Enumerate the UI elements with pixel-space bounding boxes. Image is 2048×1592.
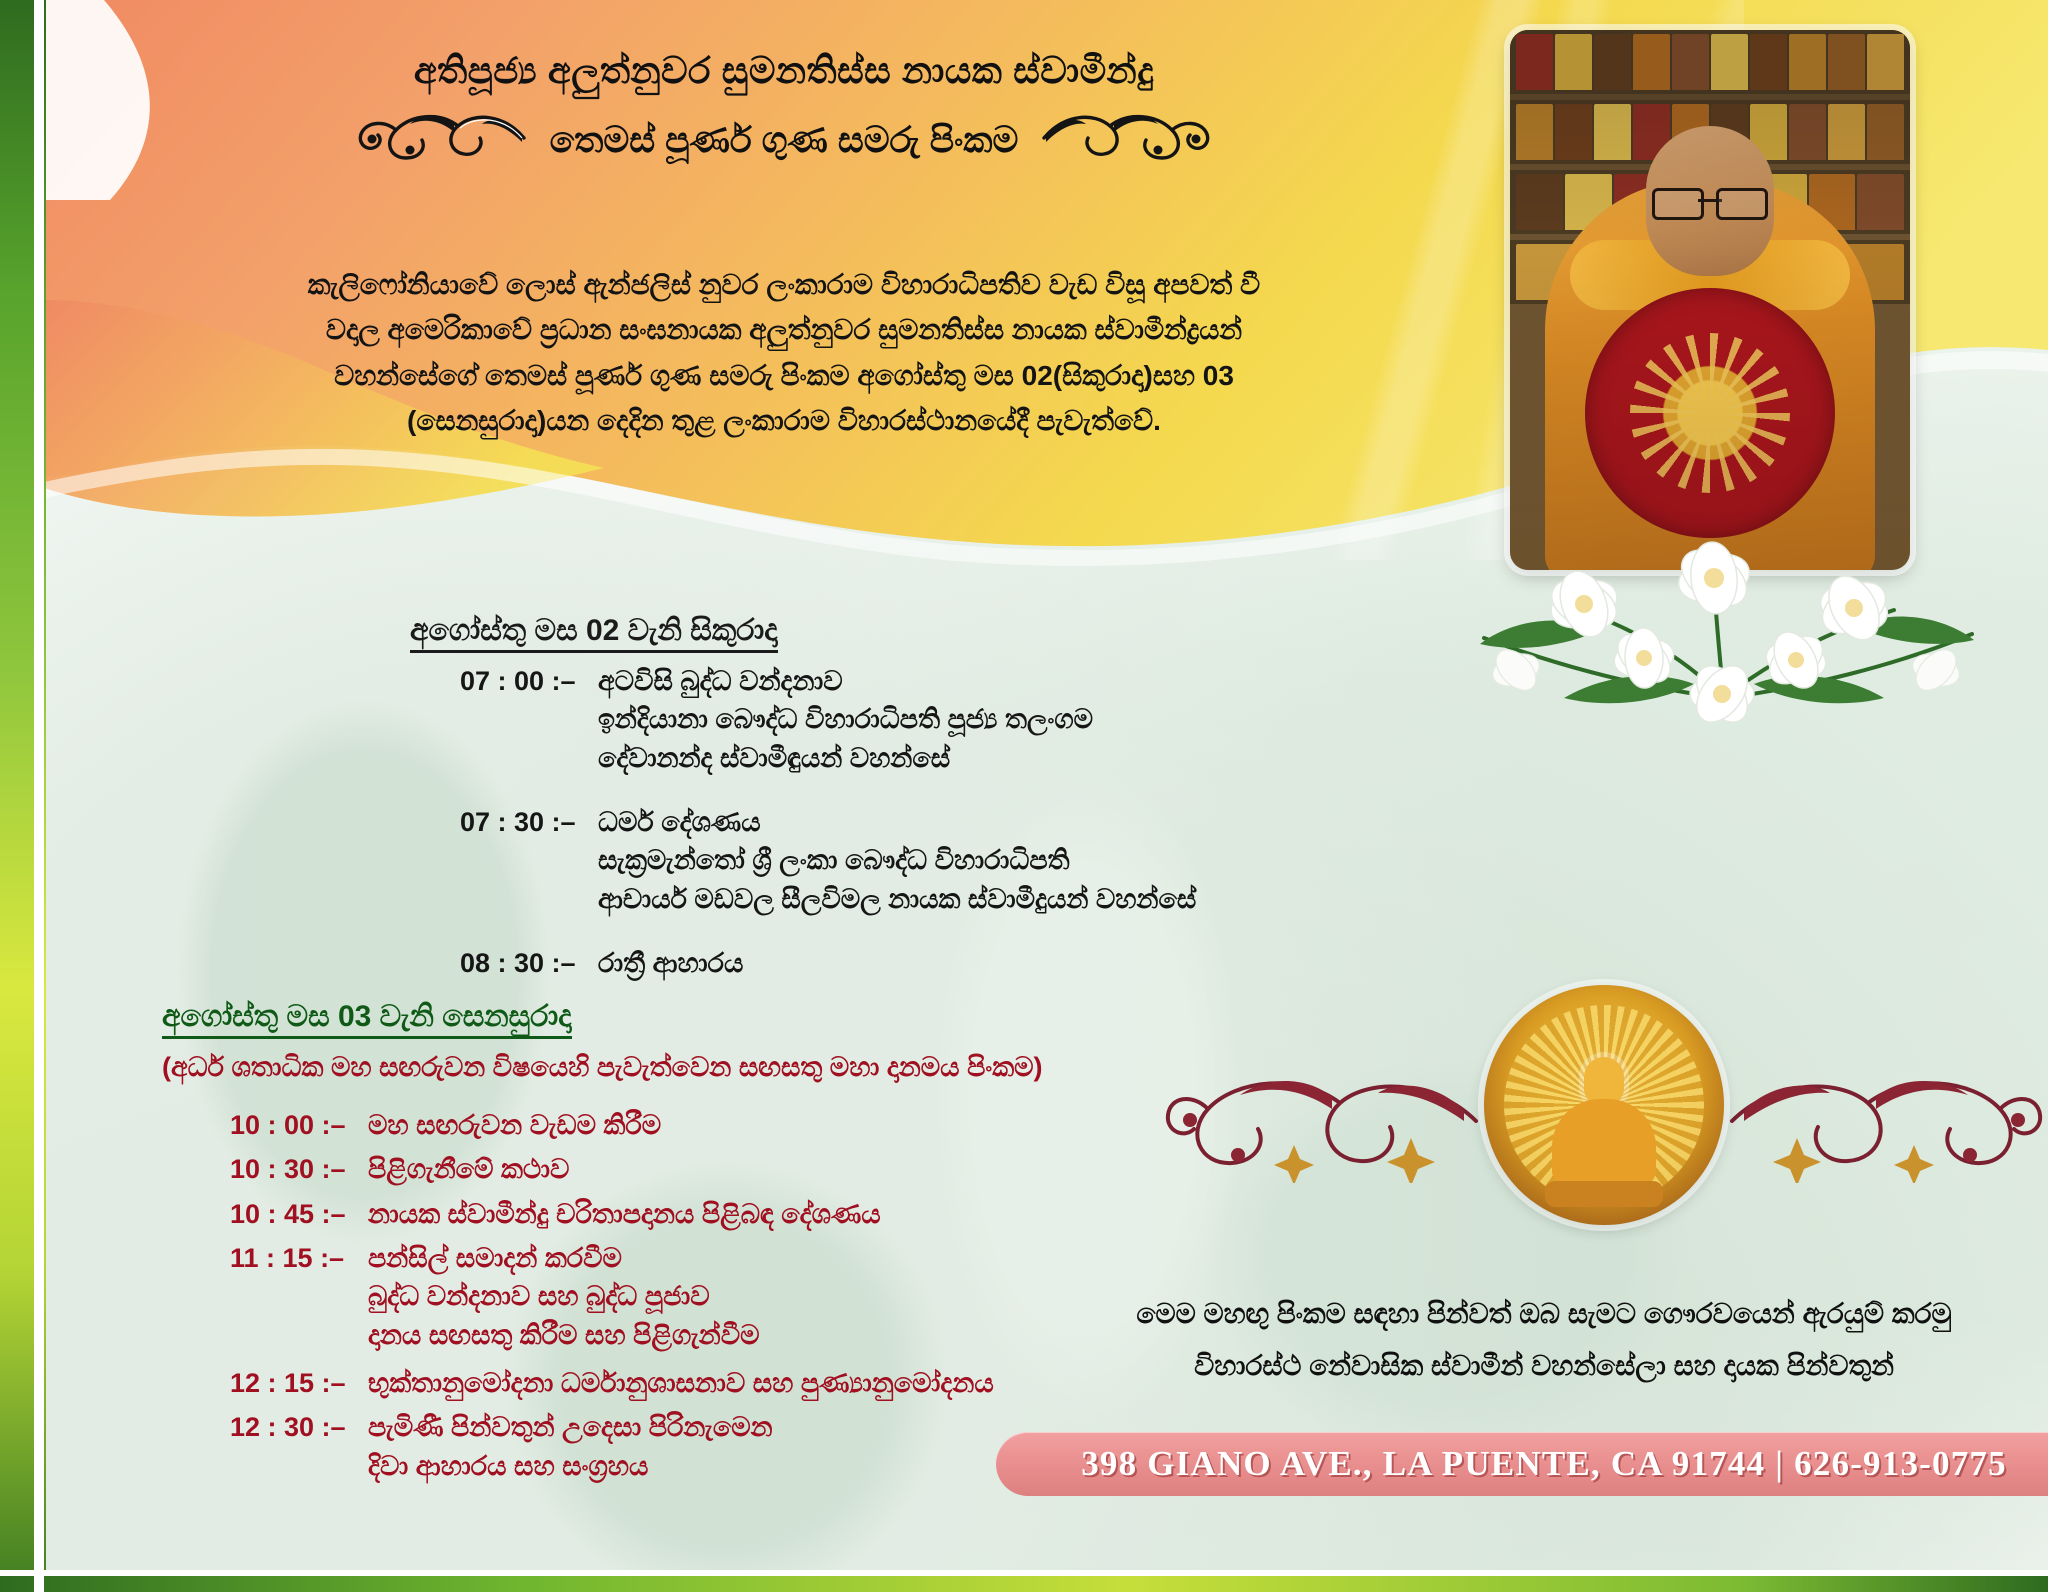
schedule-text: සැක්‍රමැන්තෝ ශ්‍රී ලංකා බෞද්ධ විහාරාධිපත… — [460, 841, 1480, 879]
schedule-text: අටවිසි බුද්ධ වන්දනාව — [598, 666, 843, 696]
schedule-time: 07 : 30 :– — [460, 803, 598, 841]
schedule-item: 10 : 00 :–මහ සඟරුවන වැඩම කිරීම — [230, 1106, 1310, 1144]
chief-monk-portrait — [1510, 30, 1910, 570]
portrait-shading — [1510, 30, 1910, 570]
poster-title: අතිපූජ්‍ය අලුත්නුවර සුමනතිස්ස නායක ස්වාම… — [194, 48, 1374, 94]
day-1-schedule: 07 : 00 :–අටවිසි බුද්ධ වන්දනාව ඉන්දියානා… — [460, 662, 1480, 1008]
schedule-time: 12 : 15 :– — [230, 1364, 368, 1402]
schedule-row: 10 : 45 :–නායක ස්වාමීන්දු චරිතාපදානය පිළ… — [230, 1195, 1310, 1233]
left-border-inner-stripe — [34, 0, 44, 1592]
buddha-emblem-group — [1164, 985, 2044, 1245]
schedule-time: 10 : 00 :– — [230, 1106, 368, 1144]
schedule-text: රාත්‍රී ආහාරය — [598, 948, 743, 978]
intro-line-1: කැලිෆෝනියාවේ ලොස් ඇන්ජලිස් නුවර ලංකාරාම … — [219, 262, 1349, 307]
ornament-flourish-right-icon — [1724, 1063, 2044, 1188]
bottom-border-inner-stripe — [0, 1570, 2048, 1576]
schedule-text: නායක ස්වාමීන්දු චරිතාපදානය පිළිබඳ දේශණය — [368, 1199, 881, 1229]
address-bar[interactable]: 398 GIANO AVE., LA PUENTE, CA 91744 | 62… — [996, 1432, 2048, 1496]
schedule-item: 07 : 30 :–ධර්ම දේශණය සැක්‍රමැන්තෝ ශ්‍රී … — [460, 803, 1480, 918]
buddha-figure — [1549, 1057, 1659, 1207]
schedule-row: 11 : 15 :–පන්සිල් සමාදන් කරවීම — [230, 1239, 1310, 1277]
schedule-text: දේවානන්ද ස්වාමීඳුයන් වහන්සේ — [460, 739, 1480, 777]
intro-paragraph: කැලිෆෝනියාවේ ලොස් ඇන්ජලිස් නුවර ලංකාරාම … — [219, 262, 1349, 443]
schedule-text: භුක්තානුමෝදනා ධර්මානුශාසනාව සහ පුණ්‍යානු… — [368, 1368, 994, 1398]
poster-root: අතිපූජ්‍ය අලුත්නුවර සුමනතිස්ස නායක ස්වාම… — [0, 0, 2048, 1592]
schedule-item: 10 : 30 :–පිළිගැනීමේ කථාව — [230, 1150, 1310, 1188]
schedule-time: 10 : 45 :– — [230, 1195, 368, 1233]
schedule-time: 10 : 30 :– — [230, 1150, 368, 1188]
seated-buddha-medallion — [1484, 985, 1724, 1225]
ornament-flourish-right-icon — [1034, 108, 1214, 171]
schedule-text: ධර්ම දේශණය — [598, 807, 761, 837]
schedule-row: 10 : 30 :–පිළිගැනීමේ කථාව — [230, 1150, 1310, 1188]
schedule-row: 10 : 00 :–මහ සඟරුවන වැඩම කිරීම — [230, 1106, 1310, 1144]
schedule-text: මහ සඟරුවන වැඩම කිරීම — [368, 1110, 661, 1140]
ornament-flourish-left-icon — [354, 108, 534, 171]
schedule-text: පන්සිල් සමාදන් කරවීම — [368, 1243, 622, 1273]
schedule-item: 08 : 30 :–රාත්‍රී ආහාරය — [460, 944, 1480, 982]
ornament-flourish-left-icon — [1164, 1063, 1484, 1188]
schedule-row: 07 : 00 :–අටවිසි බුද්ධ වන්දනාව — [460, 662, 1480, 700]
invitation-line-1: මෙම මහඟු පිංකම සඳහා පින්වත් ඔබ සැමට ගෞරව… — [1034, 1288, 2048, 1340]
schedule-row: 07 : 30 :–ධර්ම දේශණය — [460, 803, 1480, 841]
day-1-heading: අගෝස්තු මස 02 වැනි සිකුරාදා — [410, 614, 778, 653]
schedule-time: 12 : 30 :– — [230, 1408, 368, 1446]
intro-line-2: වදාල අමෙරිකාවේ ප්‍රධාන සංඝනායක අලුත්නුවර… — [219, 307, 1349, 352]
invitation-line-2: විහාරස්ථ නේවාසික ස්වාමීන් වහන්සේලා සහ දා… — [1034, 1340, 2048, 1392]
title-line-2: තෙමස් පූර්ණ ගුණ සමරු පිංකම — [550, 118, 1019, 161]
address-text: 398 GIANO AVE., LA PUENTE, CA 91744 | 62… — [1081, 1444, 2007, 1484]
intro-line-4: (සෙනසුරාදා)යන දෙදින තුළ ලංකාරාම විහාරස්ථ… — [219, 398, 1349, 443]
schedule-item: 07 : 00 :–අටවිසි බුද්ධ වන්දනාව ඉන්දියානා… — [460, 662, 1480, 777]
poster-subtitle-row: තෙමස් පූර්ණ ගුණ සමරු පිංකම — [184, 108, 1384, 171]
schedule-time: 08 : 30 :– — [460, 944, 598, 982]
schedule-time: 11 : 15 :– — [230, 1239, 368, 1277]
white-lily-bouquet — [1444, 498, 2004, 728]
day-2-note: (අර්ධ ශතාධික මහ සඟරුවන විෂයෙහි පැවැත්වෙන… — [162, 1052, 1043, 1084]
schedule-row: 08 : 30 :–රාත්‍රී ආහාරය — [460, 944, 1480, 982]
intro-line-3: වහන්සේගේ තෙමස් පූර්ණ ගුණ සමරු පිංකම අගෝස… — [219, 353, 1349, 398]
invitation-text: මෙම මහඟු පිංකම සඳහා පින්වත් ඔබ සැමට ගෞරව… — [1034, 1288, 2048, 1392]
schedule-time: 07 : 00 :– — [460, 662, 598, 700]
schedule-text: ඉන්දියානා බෞද්ධ විහාරාධිපති පූජ්‍ය තලංගම — [460, 700, 1480, 738]
schedule-text: පිළිගැනීමේ කථාව — [368, 1154, 569, 1184]
day-2-heading: අගෝස්තු මස 03 වැනි සෙනසුරාදා — [162, 1000, 572, 1039]
schedule-text: පැමිණී පින්වතුන් උදෙසා පිරිනැමෙන — [368, 1412, 773, 1442]
schedule-text: ආචාර්ය මඩවල සීලවිමල නායක ස්වාමීදුයන් වහන… — [460, 880, 1480, 918]
schedule-item: 10 : 45 :–නායක ස්වාමීන්දු චරිතාපදානය පිළ… — [230, 1195, 1310, 1233]
poster-canvas: අතිපූජ්‍ය අලුත්නුවර සුමනතිස්ස නායක ස්වාම… — [44, 0, 2048, 1570]
title-line-1: අතිපූජ්‍ය අලුත්නුවර සුමනතිස්ස නායක ස්වාම… — [194, 48, 1374, 94]
